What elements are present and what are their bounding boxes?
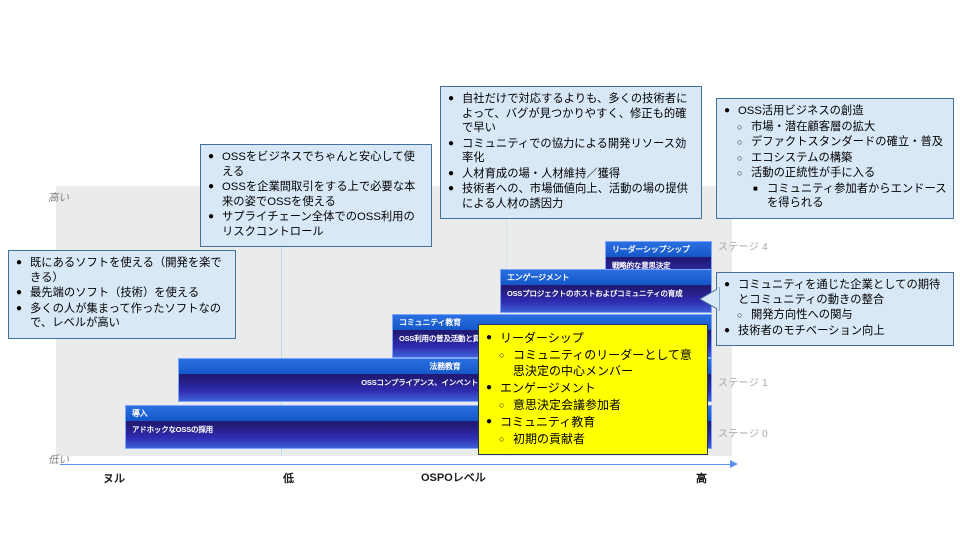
bullet-circle-icon: ○	[737, 120, 742, 135]
bullet-disc-icon: ●	[724, 278, 730, 293]
list-item: ●既にあるソフトを使える（開発を楽できる）	[13, 256, 229, 285]
callout-roles-list: ●リーダーシップ ○コミュニティのリーダーとして意思決定の中心メンバー ●エンゲ…	[483, 330, 701, 447]
bullet-square-icon: ■	[753, 182, 758, 197]
bullet-circle-icon: ○	[499, 431, 504, 447]
bar-engagement[interactable]: エンゲージメント OSSプロジェクトのホストおよびコミュニティの育成	[500, 269, 712, 313]
bar-engagement-desc: OSSプロジェクトのホストおよびコミュニティの育成	[501, 285, 711, 299]
list-item: ○デファクトスタンダードの確立・普及	[721, 135, 947, 150]
callout-community-benefits[interactable]: ●自社だけで対応するよりも、多くの技術者によって、バグが見つかりやすく、修正も的…	[440, 86, 702, 219]
list-item: ●自社だけで対応するよりも、多くの技術者によって、バグが見つかりやすく、修正も的…	[445, 92, 695, 136]
bullet-disc-icon: ●	[486, 330, 492, 346]
list-item: ●技術者への、市場価値向上、活動の場の提供による人材の誘因力	[445, 182, 695, 211]
callout-roles-highlight[interactable]: ●リーダーシップ ○コミュニティのリーダーとして意思決定の中心メンバー ●エンゲ…	[478, 324, 708, 455]
list-item: ○コミュニティのリーダーとして意思決定の中心メンバー	[483, 347, 701, 379]
callout-legal-benefits-list: ●OSSをビジネスでちゃんと安心して使える ●OSSを企業間取引をする上で必要な…	[205, 150, 425, 239]
x-tick-null: ヌル	[103, 470, 125, 486]
stage-label-1: ステージ 1	[718, 374, 768, 389]
bullet-circle-icon: ○	[737, 135, 742, 150]
callout-legal-benefits[interactable]: ●OSSをビジネスでちゃんと安心して使える ●OSSを企業間取引をする上で必要な…	[200, 144, 432, 247]
bullet-disc-icon: ●	[486, 380, 492, 396]
list-item: ●OSSをビジネスでちゃんと安心して使える	[205, 150, 425, 179]
list-item: ●エンゲージメント	[483, 380, 701, 396]
list-item: ■コミュニティ参加者からエンドースを得られる	[721, 182, 947, 211]
bullet-disc-icon: ●	[16, 302, 22, 317]
callout-engagement-benefits-list: ●コミュニティを通じた企業としての期待とコミュニティの動きの整合 ○開発方向性へ…	[721, 278, 947, 338]
bullet-disc-icon: ●	[724, 104, 730, 119]
callout-oss-basic-benefits[interactable]: ●既にあるソフトを使える（開発を楽できる） ●最先端のソフト（技術）を使える ●…	[8, 250, 236, 339]
bullet-circle-icon: ○	[737, 151, 742, 166]
bullet-circle-icon: ○	[499, 397, 504, 413]
callout-business-creation-list: ●OSS活用ビジネスの創造 ○市場・潜在顧客層の拡大 ○デファクトスタンダードの…	[721, 104, 947, 211]
stage-label-0: ステージ 0	[718, 425, 768, 440]
x-axis-line	[60, 464, 732, 465]
callout-engagement-benefits[interactable]: ●コミュニティを通じた企業としての期待とコミュニティの動きの整合 ○開発方向性へ…	[716, 272, 954, 346]
x-tick-low: 低	[283, 470, 294, 486]
bullet-circle-icon: ○	[737, 308, 742, 323]
bullet-disc-icon: ●	[208, 180, 214, 195]
bullet-disc-icon: ●	[16, 256, 22, 271]
bullet-disc-icon: ●	[208, 150, 214, 165]
callout-community-benefits-list: ●自社だけで対応するよりも、多くの技術者によって、バグが見つかりやすく、修正も的…	[445, 92, 695, 211]
bullet-disc-icon: ●	[448, 182, 454, 197]
list-item: ●人材育成の場・人材維持／獲得	[445, 167, 695, 182]
callout-engagement-tail	[700, 286, 720, 312]
bullet-circle-icon: ○	[499, 347, 504, 363]
y-axis-high-label: 高い	[48, 190, 69, 205]
bullet-disc-icon: ●	[724, 324, 730, 339]
list-item: ●リーダーシップ	[483, 330, 701, 346]
list-item: ●最先端のソフト（技術）を使える	[13, 286, 229, 301]
bullet-disc-icon: ●	[208, 210, 214, 225]
list-item: ○活動の正統性が手に入る	[721, 166, 947, 181]
x-axis-title: OSPOレベル	[421, 469, 486, 485]
bar-engagement-title: エンゲージメント	[501, 270, 711, 285]
stage-label-4: ステージ 4	[718, 238, 768, 253]
bullet-disc-icon: ●	[448, 92, 454, 107]
list-item: ○エコシステムの構築	[721, 151, 947, 166]
callout-business-creation[interactable]: ●OSS活用ビジネスの創造 ○市場・潜在顧客層の拡大 ○デファクトスタンダードの…	[716, 98, 954, 219]
list-item: ○意思決定会議参加者	[483, 397, 701, 413]
bullet-disc-icon: ●	[448, 137, 454, 152]
bullet-disc-icon: ●	[486, 414, 492, 430]
list-item: ○市場・潜在顧客層の拡大	[721, 120, 947, 135]
bullet-circle-icon: ○	[737, 166, 742, 181]
callout-oss-basic-benefits-list: ●既にあるソフトを使える（開発を楽できる） ●最先端のソフト（技術）を使える ●…	[13, 256, 229, 331]
y-axis-low-label: 低い	[48, 452, 69, 467]
list-item: ●コミュニティ教育	[483, 414, 701, 430]
bullet-disc-icon: ●	[448, 167, 454, 182]
list-item: ○初期の貢献者	[483, 431, 701, 447]
list-item: ○開発方向性への関与	[721, 308, 947, 323]
list-item: ●コミュニティでの協力による開発リソース効率化	[445, 137, 695, 166]
list-item: ●コミュニティを通じた企業としての期待とコミュニティの動きの整合	[721, 278, 947, 307]
list-item: ●OSS活用ビジネスの創造	[721, 104, 947, 119]
x-tick-high: 高	[696, 470, 707, 486]
list-item: ●サプライチェーン全体でのOSS利用のリスクコントロール	[205, 210, 425, 239]
bullet-disc-icon: ●	[16, 286, 22, 301]
list-item: ●OSSを企業間取引をする上で必要な本来の姿でOSSを使える	[205, 180, 425, 209]
list-item: ●技術者のモチベーション向上	[721, 324, 947, 339]
bar-leadership-title: リーダーシップシップ	[606, 242, 711, 257]
x-axis-arrow	[730, 460, 738, 468]
list-item: ●多くの人が集まって作ったソフトなので、レベルが高い	[13, 302, 229, 331]
